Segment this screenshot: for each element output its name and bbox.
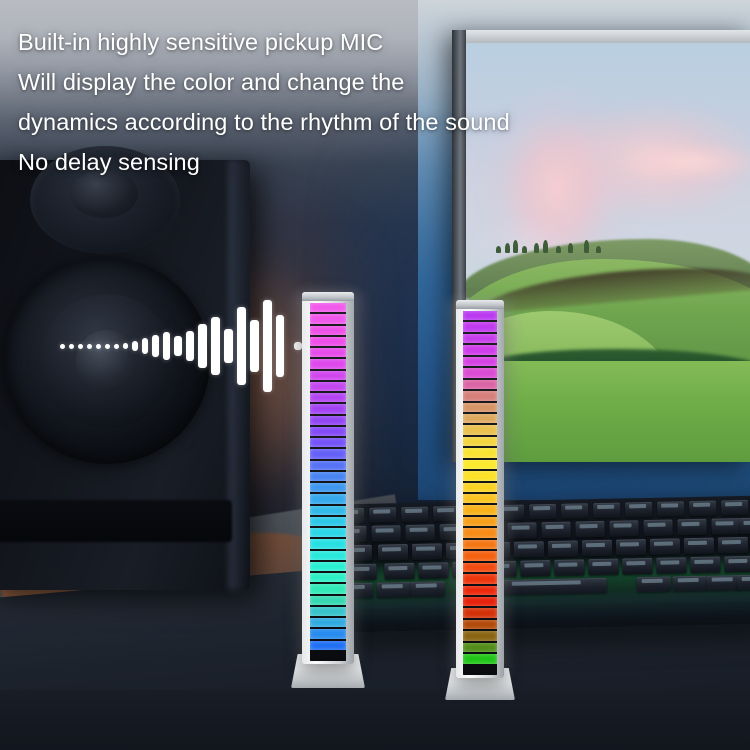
keyboard-key xyxy=(711,518,740,535)
wallpaper-tree xyxy=(522,246,527,253)
led-segment xyxy=(310,517,346,526)
keyboard-key xyxy=(588,559,618,576)
wallpaper-tree-line xyxy=(496,239,606,253)
waveform-bar xyxy=(294,342,302,350)
keyboard-key xyxy=(637,577,671,593)
keyboard-key xyxy=(737,574,750,590)
led-sound-bar-left-top-cap xyxy=(302,292,354,301)
keyboard-key xyxy=(369,507,396,523)
wallpaper-tree xyxy=(534,243,539,253)
keyboard-key xyxy=(405,524,434,541)
led-segment xyxy=(463,551,497,560)
waveform-bar xyxy=(198,324,207,368)
keyboard-keycaps xyxy=(335,498,750,599)
led-segment xyxy=(463,448,497,457)
led-segment xyxy=(310,494,346,503)
led-segment xyxy=(463,586,497,595)
led-segment xyxy=(310,584,346,593)
keyboard-key xyxy=(554,559,584,576)
waveform-bar xyxy=(186,331,194,361)
led-segment xyxy=(310,314,346,323)
led-segment xyxy=(310,539,346,548)
wallpaper-foreground-field xyxy=(466,361,750,462)
led-segment xyxy=(463,425,497,434)
led-sound-bar-right[interactable] xyxy=(456,300,504,702)
product-scene: Built-in highly sensitive pickup MICWill… xyxy=(0,0,750,750)
led-segment xyxy=(463,528,497,537)
wallpaper-tree xyxy=(568,243,573,253)
wallpaper-tree xyxy=(556,246,561,253)
led-segment xyxy=(463,357,497,366)
led-segment xyxy=(463,631,497,640)
keyboard-key xyxy=(593,503,620,519)
led-segment xyxy=(463,505,497,514)
keyboard-key xyxy=(514,541,544,558)
keyboard-key xyxy=(507,522,536,539)
keyboard-key xyxy=(520,560,550,577)
led-segment xyxy=(463,334,497,343)
led-segment xyxy=(463,403,497,412)
led-segment xyxy=(310,573,346,582)
keyboard-key xyxy=(561,503,588,519)
wallpaper-tree xyxy=(505,243,510,253)
keyboard-key xyxy=(677,519,706,536)
led-segment xyxy=(463,345,497,354)
led-segment xyxy=(310,404,346,413)
waveform-bar xyxy=(105,344,110,349)
waveform-bar xyxy=(152,335,159,357)
keyboard-key xyxy=(548,540,578,557)
led-segment xyxy=(310,326,346,335)
led-segment xyxy=(310,652,346,661)
led-segment xyxy=(310,472,346,481)
waveform-bar xyxy=(69,344,74,349)
led-segment xyxy=(310,618,346,627)
wallpaper-tree xyxy=(513,240,518,253)
waveform-bar xyxy=(211,317,220,375)
led-sound-bar-right-segments xyxy=(463,311,497,675)
led-segment xyxy=(463,597,497,606)
keyboard-key xyxy=(609,520,638,537)
keyboard-key xyxy=(625,502,652,518)
led-segment xyxy=(463,483,497,492)
led-segment xyxy=(463,540,497,549)
led-segment xyxy=(463,368,497,377)
keyboard-key xyxy=(384,563,414,580)
led-segment xyxy=(463,608,497,617)
led-segment xyxy=(463,460,497,469)
led-segment xyxy=(463,620,497,629)
keyboard-key xyxy=(497,578,607,595)
waveform-bar xyxy=(163,332,170,360)
waveform-bar xyxy=(114,344,119,349)
keyboard-key xyxy=(411,581,445,597)
led-segment xyxy=(310,528,346,537)
keyboard-key xyxy=(377,582,411,598)
wallpaper-tree xyxy=(596,246,601,253)
led-segment xyxy=(463,654,497,663)
led-sound-bar-left[interactable] xyxy=(302,292,354,690)
keyboard-key xyxy=(575,521,604,538)
led-segment xyxy=(310,483,346,492)
led-segment xyxy=(310,506,346,515)
keyboard-key xyxy=(401,507,428,523)
led-segment xyxy=(463,414,497,423)
headline-line-4: No delay sensing xyxy=(18,142,738,182)
keyboard-key xyxy=(650,538,680,555)
led-segment xyxy=(310,449,346,458)
keyboard-key xyxy=(724,556,750,573)
led-segment xyxy=(463,311,497,320)
waveform-bar xyxy=(87,344,92,349)
keyboard-key xyxy=(418,562,448,579)
led-segment xyxy=(310,629,346,638)
waveform-bar xyxy=(250,320,259,372)
keyboard-key xyxy=(690,556,720,573)
led-segment xyxy=(463,437,497,446)
led-segment xyxy=(310,382,346,391)
waveform-bar xyxy=(96,344,101,349)
speaker-bass-port xyxy=(0,500,232,542)
led-segment xyxy=(310,562,346,571)
led-segment xyxy=(310,359,346,368)
headline-line-2: Will display the color and change the xyxy=(18,62,738,102)
led-segment xyxy=(310,438,346,447)
keyboard-key xyxy=(643,519,672,536)
waveform-bar xyxy=(276,315,284,377)
keyboard-reflection xyxy=(340,592,750,641)
waveform-bar xyxy=(60,344,65,349)
keyboard-key xyxy=(412,543,442,560)
keyboard-key xyxy=(721,500,748,516)
wallpaper-tree xyxy=(543,240,548,253)
keyboard-key xyxy=(378,544,408,561)
keyboard-key xyxy=(622,558,652,575)
keyboard-key xyxy=(718,537,748,554)
waveform-bar xyxy=(123,343,128,349)
keyboard-key xyxy=(371,525,400,542)
led-segment xyxy=(463,563,497,572)
led-segment xyxy=(310,427,346,436)
keyboard-key xyxy=(673,576,707,592)
led-sound-bar-right-top-cap xyxy=(456,300,504,309)
waveform-bar xyxy=(224,329,233,363)
led-segment xyxy=(463,494,497,503)
led-segment xyxy=(463,471,497,480)
led-segment xyxy=(463,574,497,583)
waveform-bar xyxy=(132,341,138,351)
led-segment xyxy=(310,348,346,357)
led-segment xyxy=(310,303,346,312)
desk-front-edge xyxy=(0,690,750,750)
keyboard-key xyxy=(616,539,646,556)
keyboard-key xyxy=(541,522,570,539)
waveform-bar xyxy=(174,336,182,356)
waveform-bar xyxy=(237,307,246,385)
led-segment xyxy=(463,643,497,652)
keyboard-key xyxy=(739,517,750,534)
led-segment xyxy=(463,380,497,389)
led-segment xyxy=(310,337,346,346)
keyboard-key xyxy=(529,504,556,520)
led-segment xyxy=(463,391,497,400)
waveform-bar xyxy=(263,300,272,392)
keyboard-key xyxy=(684,538,714,555)
wallpaper-tree xyxy=(496,246,501,253)
led-segment xyxy=(310,596,346,605)
headline-line-3: dynamics according to the rhythm of the … xyxy=(18,102,738,142)
sound-wave-graphic xyxy=(60,300,245,392)
led-segment xyxy=(310,371,346,380)
keyboard-key xyxy=(689,501,716,517)
waveform-bar xyxy=(142,338,148,354)
led-segment xyxy=(310,641,346,650)
led-segment xyxy=(463,322,497,331)
led-segment xyxy=(310,393,346,402)
led-segment xyxy=(463,517,497,526)
led-segment xyxy=(310,607,346,616)
wallpaper-tree xyxy=(584,240,589,253)
keyboard-key xyxy=(582,540,612,557)
led-segment xyxy=(310,461,346,470)
headline-line-1: Built-in highly sensitive pickup MIC xyxy=(18,22,738,62)
waveform-bar xyxy=(78,344,83,349)
headline-text: Built-in highly sensitive pickup MICWill… xyxy=(18,22,738,182)
led-segment xyxy=(310,416,346,425)
keyboard-key xyxy=(656,557,686,574)
led-sound-bar-left-segments xyxy=(310,303,346,661)
led-segment xyxy=(310,551,346,560)
keyboard-key xyxy=(657,501,684,517)
led-segment xyxy=(463,666,497,675)
